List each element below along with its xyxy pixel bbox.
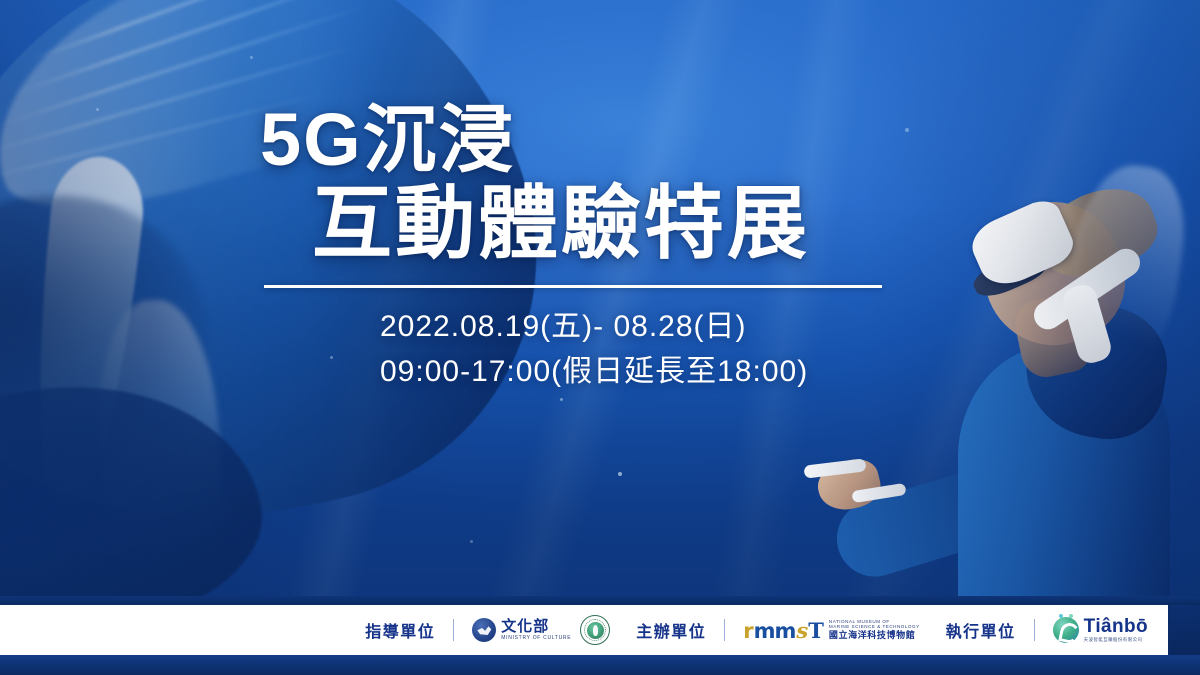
exhibition-hours: 09:00-17:00(假日延長至18:00) (380, 351, 898, 394)
sponsor-group-advisors: 指導單位 文化部 MINISTRY OF CULTURE (365, 615, 610, 645)
bubble-particle (905, 128, 909, 132)
tianbo-logo[interactable]: Tiânbō 天波智能互聯股份有限公司 (1053, 617, 1148, 643)
bubble-particle (618, 472, 622, 476)
bubble-particle (560, 398, 563, 401)
nmmst-name-en-line2: MARINE SCIENCE & TECHNOLOGY (829, 625, 920, 630)
sponsor-label-advisor: 指導單位 (365, 618, 435, 642)
headline-block: 5G沉浸 互動體驗特展 2022.08.19(五)- 08.28(日) 09:0… (258, 104, 898, 393)
tianbo-dot (1059, 614, 1063, 618)
tianbo-emblem-icon (1053, 617, 1079, 643)
page-title-line1: 5G沉浸 (260, 104, 898, 177)
bubble-particle (250, 56, 253, 59)
nmmst-mark-t: T (808, 618, 823, 643)
sponsor-label-executor: 執行單位 (946, 618, 1016, 642)
bubble-particle (470, 540, 473, 543)
sponsor-label-organizer: 主辦單位 (636, 618, 706, 642)
nmmst-mark-m: mm (754, 619, 796, 643)
nmmst-mark-r: r (743, 619, 752, 643)
tianbo-dot (1069, 614, 1073, 618)
sponsor-divider (1034, 619, 1035, 641)
sponsor-divider (453, 619, 454, 641)
bubble-particle (96, 108, 99, 111)
tianbo-wordmark: Tiânbō (1084, 617, 1148, 636)
page-title-line2: 互動體驗特展 (312, 185, 898, 263)
exhibition-banner: 5G沉浸 互動體驗特展 2022.08.19(五)- 08.28(日) 09:0… (0, 0, 1200, 675)
sponsor-divider (724, 619, 725, 641)
exhibition-dates: 2022.08.19(五)- 08.28(日) (380, 306, 898, 349)
ministry-of-culture-name-cn: 文化部 (501, 619, 571, 634)
nmmst-wordmark-icon: r mm s T (743, 618, 823, 643)
ministry-of-culture-emblem-icon (472, 618, 496, 642)
ministry-of-culture-logo[interactable]: 文化部 MINISTRY OF CULTURE (472, 618, 571, 642)
ministry-of-education-seal-icon[interactable] (580, 615, 610, 645)
bar-bottom-strip (0, 655, 1200, 675)
seal-center-icon (587, 622, 604, 639)
bar-top-strip (0, 596, 1200, 605)
title-divider (264, 285, 882, 288)
sponsor-group-organizer: 主辦單位 r mm s T NATIONAL MUSEUM OF MARINE … (636, 618, 919, 643)
nmmst-logo[interactable]: r mm s T NATIONAL MUSEUM OF MARINE SCIEN… (743, 618, 919, 643)
tianbo-subtitle: 天波智能互聯股份有限公司 (1084, 638, 1148, 642)
sponsor-group-executor: 執行單位 Tiânbō 天波智能互聯股份有限公司 (946, 617, 1148, 643)
ministry-of-culture-name-en: MINISTRY OF CULTURE (501, 636, 571, 641)
nmmst-mark-s: s (796, 618, 807, 643)
nmmst-name-cn: 國立海洋科技博物館 (829, 631, 920, 640)
sponsor-bar: 指導單位 文化部 MINISTRY OF CULTURE 主辦單位 r (0, 605, 1168, 655)
